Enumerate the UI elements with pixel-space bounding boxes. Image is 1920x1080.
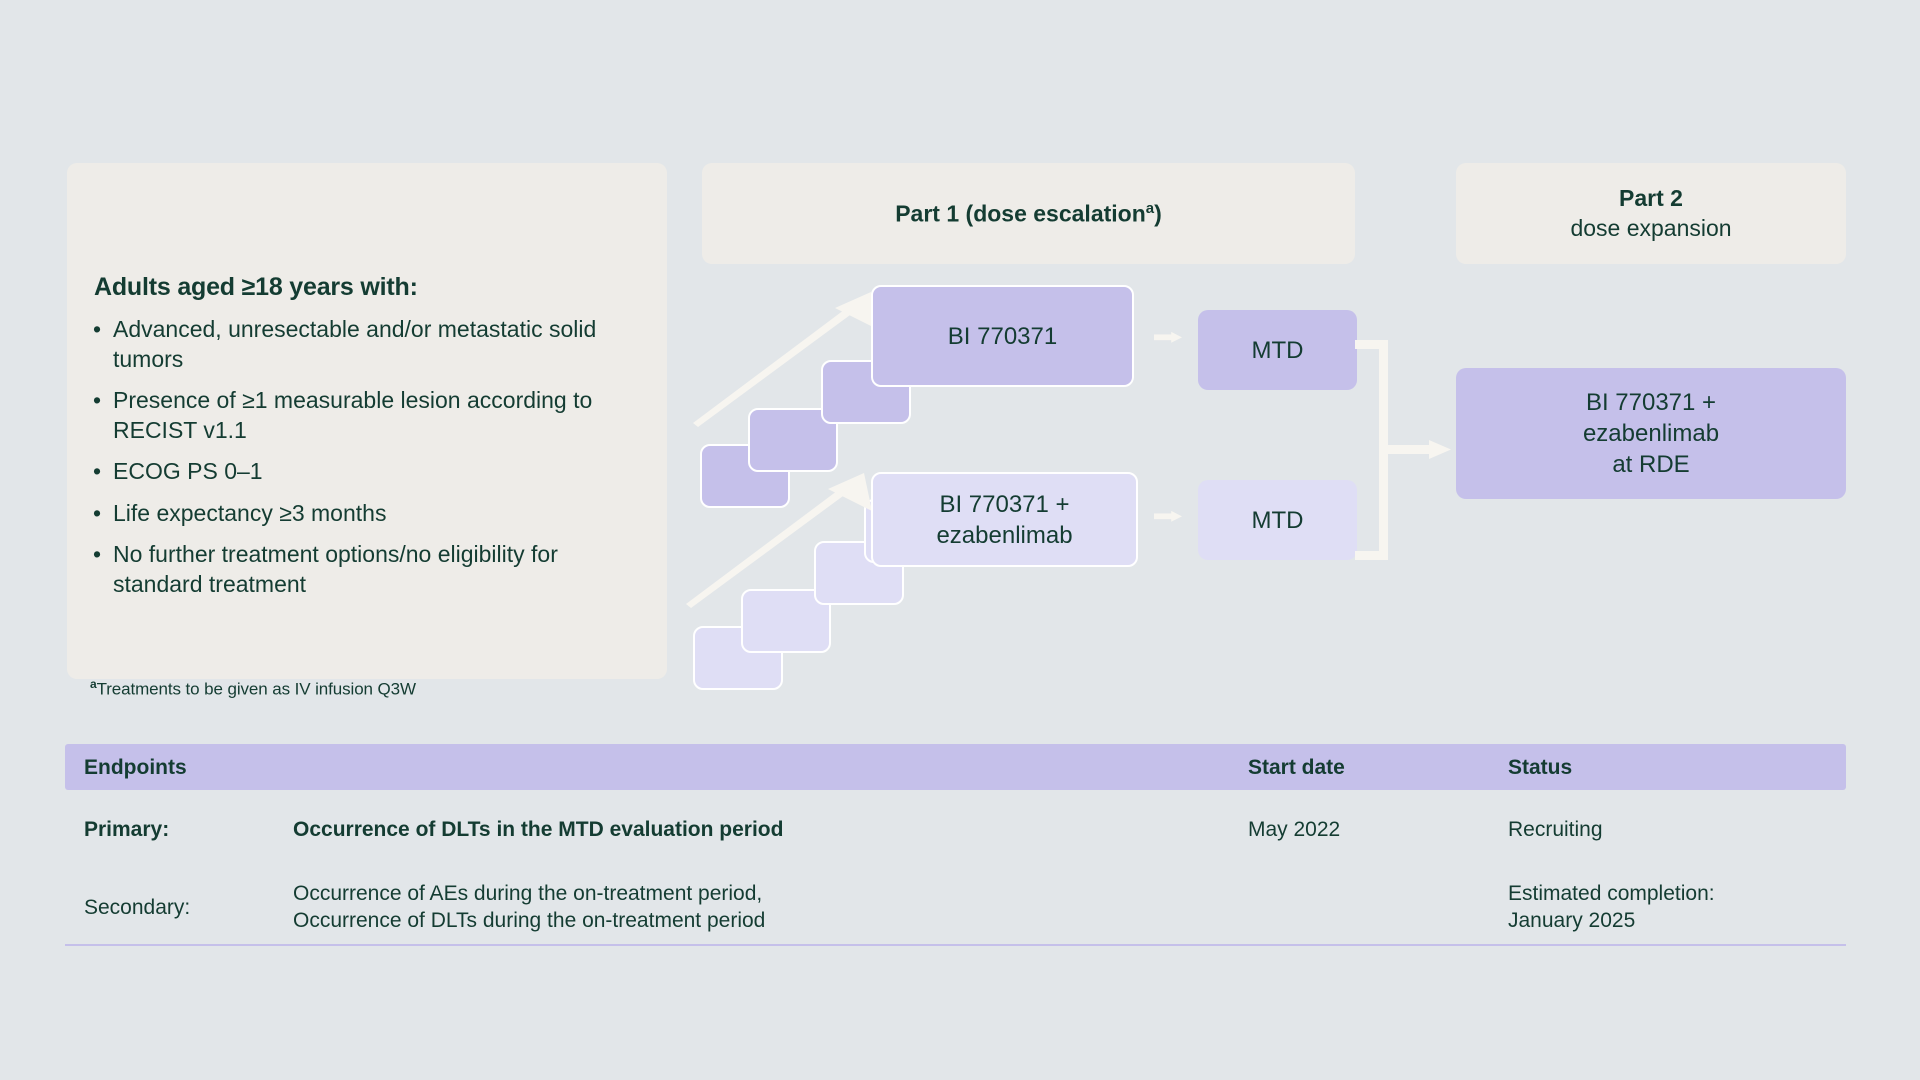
- row-secondary-status: Estimated completion: January 2025: [1508, 880, 1715, 934]
- eligibility-panel: Adults aged ≥18 years with: Advanced, un…: [67, 163, 667, 679]
- list-item: Life expectancy ≥3 months: [89, 499, 634, 529]
- rde-box-line3: at RDE: [1583, 449, 1719, 480]
- dose-escalation-arrow-upper: [693, 292, 883, 427]
- rde-box-line1: BI 770371 +: [1583, 387, 1719, 418]
- list-item: ECOG PS 0–1: [89, 457, 634, 487]
- row-secondary-status-line1: Estimated completion:: [1508, 880, 1715, 907]
- arrow-arm1-to-mtd: [1146, 330, 1190, 344]
- list-item: Advanced, unresectable and/or metastatic…: [89, 315, 634, 374]
- treatment-box-bi770371-ezabenlimab: BI 770371 + ezabenlimab: [871, 472, 1138, 567]
- mtd-box-arm1: MTD: [1198, 310, 1357, 390]
- column-header-start-date: Start date: [1248, 756, 1345, 780]
- treatment-box-combo-line2: ezabenlimab: [936, 520, 1072, 551]
- row-secondary-description-line1: Occurrence of AEs during the on-treatmen…: [293, 880, 765, 907]
- endpoints-table: Endpoints Start date Status Primary: Occ…: [65, 744, 1846, 946]
- column-header-endpoints: Endpoints: [84, 756, 187, 780]
- part2-subtitle: dose expansion: [1570, 215, 1731, 242]
- rde-treatment-box: BI 770371 + ezabenlimab at RDE: [1456, 368, 1846, 499]
- footnote-marker: a: [90, 677, 97, 691]
- mtd-merge-bracket: [1355, 340, 1465, 560]
- treatment-box-bi770371-label: BI 770371: [948, 321, 1057, 352]
- eligibility-criteria-list: Advanced, unresectable and/or metastatic…: [89, 315, 634, 611]
- eligibility-footnote: aTreatments to be given as IV infusion Q…: [90, 677, 416, 700]
- arrow-arm2-to-mtd: [1146, 509, 1190, 523]
- table-row: Primary: Occurrence of DLTs in the MTD e…: [65, 790, 1846, 862]
- part1-title-close: ): [1154, 200, 1162, 226]
- part1-title: Part 1 (dose escalationa): [895, 200, 1162, 228]
- list-item: Presence of ≥1 measurable lesion accordi…: [89, 386, 634, 445]
- rde-box-line2: ezabenlimab: [1583, 418, 1719, 449]
- part2-header: Part 2 dose expansion: [1456, 163, 1846, 264]
- column-header-status: Status: [1508, 756, 1572, 780]
- row-secondary-label: Secondary:: [84, 894, 190, 921]
- row-primary-description: Occurrence of DLTs in the MTD evaluation…: [293, 816, 783, 843]
- row-secondary-status-line2: January 2025: [1508, 907, 1715, 934]
- mtd-box-arm2-label: MTD: [1252, 505, 1304, 536]
- row-secondary-description: Occurrence of AEs during the on-treatmen…: [293, 880, 765, 934]
- mtd-box-arm1-label: MTD: [1252, 335, 1304, 366]
- list-item: No further treatment options/no eligibil…: [89, 540, 634, 599]
- row-primary-label: Primary:: [84, 816, 169, 843]
- footnote-text: Treatments to be given as IV infusion Q3…: [97, 680, 416, 699]
- table-row: Secondary: Occurrence of AEs during the …: [65, 862, 1846, 946]
- treatment-box-bi770371: BI 770371: [871, 285, 1134, 387]
- row-primary-start-date: May 2022: [1248, 816, 1340, 843]
- eligibility-title: Adults aged ≥18 years with:: [94, 273, 418, 302]
- part2-title: Part 2: [1619, 185, 1683, 212]
- mtd-box-arm2: MTD: [1198, 480, 1357, 560]
- part1-title-text: Part 1 (dose escalation: [895, 200, 1146, 226]
- diagram-canvas: Adults aged ≥18 years with: Advanced, un…: [0, 0, 1920, 1080]
- part1-header: Part 1 (dose escalationa): [702, 163, 1355, 264]
- row-primary-status: Recruiting: [1508, 816, 1603, 843]
- dose-escalation-arrow-lower: [686, 473, 876, 608]
- table-header-row: Endpoints Start date Status: [65, 744, 1846, 790]
- part1-title-footnote-marker: a: [1146, 200, 1154, 217]
- treatment-box-combo-line1: BI 770371 +: [936, 489, 1072, 520]
- row-secondary-description-line2: Occurrence of DLTs during the on-treatme…: [293, 907, 765, 934]
